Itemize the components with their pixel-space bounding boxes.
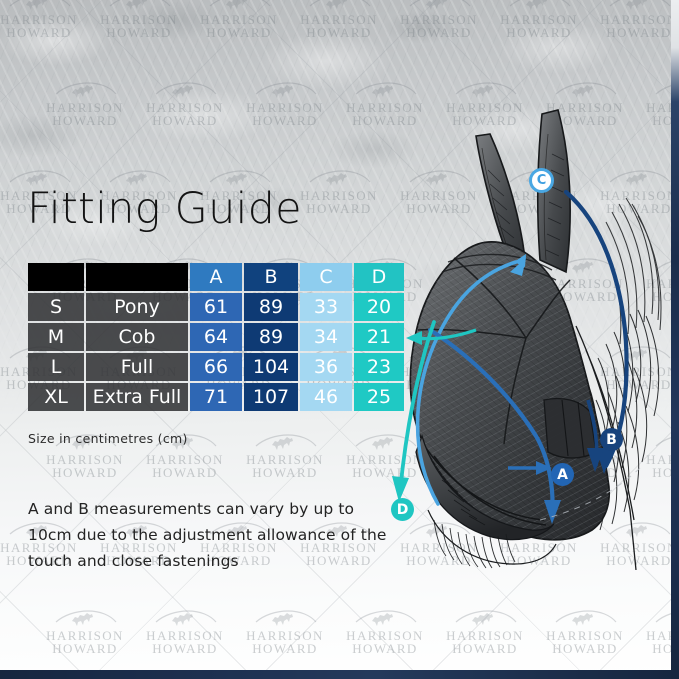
cell-col-a: 61 <box>190 293 242 321</box>
cell-col-b: 107 <box>244 383 298 411</box>
header-blank-size <box>28 263 84 291</box>
cell-col-d: 23 <box>354 353 404 381</box>
table-header-row: A B C D <box>28 263 404 291</box>
table-row: SPony61893320 <box>28 293 404 321</box>
cell-col-c: 33 <box>300 293 352 321</box>
cell-col-d: 21 <box>354 323 404 351</box>
table-header: A B C D <box>28 263 404 291</box>
header-col-a: A <box>190 263 242 291</box>
cell-col-b: 104 <box>244 353 298 381</box>
table-row: LFull661043623 <box>28 353 404 381</box>
marker-b: B <box>600 428 623 451</box>
marker-c: C <box>529 168 554 193</box>
header-col-c: C <box>300 263 352 291</box>
cell-col-a: 64 <box>190 323 242 351</box>
page-title: Fitting Guide <box>27 184 302 234</box>
cell-col-c: 34 <box>300 323 352 351</box>
header-col-d: D <box>354 263 404 291</box>
cell-size: L <box>28 353 84 381</box>
cell-col-d: 20 <box>354 293 404 321</box>
cell-size: M <box>28 323 84 351</box>
cell-col-d: 25 <box>354 383 404 411</box>
measurement-note: A and B measurements can vary by up to 1… <box>28 496 388 574</box>
header-col-b: B <box>244 263 298 291</box>
units-caption: Size in centimetres (cm) <box>28 431 188 446</box>
cell-name: Cob <box>86 323 188 351</box>
cell-col-b: 89 <box>244 323 298 351</box>
cell-col-a: 71 <box>190 383 242 411</box>
size-chart-table: A B C D SPony61893320MCob64893421LFull66… <box>26 261 406 413</box>
header-blank-name <box>86 263 188 291</box>
right-border <box>671 0 679 679</box>
marker-d: D <box>391 498 414 521</box>
table-body: SPony61893320MCob64893421LFull661043623X… <box>28 293 404 411</box>
fitting-guide-page: HARRISONHOWARDHARRISONHOWARDHARRISONHOWA… <box>0 0 679 679</box>
table-row: MCob64893421 <box>28 323 404 351</box>
cell-col-a: 66 <box>190 353 242 381</box>
cell-size: XL <box>28 383 84 411</box>
bottom-border <box>0 670 679 679</box>
table-row: XLExtra Full711074625 <box>28 383 404 411</box>
cell-size: S <box>28 293 84 321</box>
cell-col-c: 46 <box>300 383 352 411</box>
cell-name: Extra Full <box>86 383 188 411</box>
cell-col-b: 89 <box>244 293 298 321</box>
marker-a: A <box>551 463 574 486</box>
cell-name: Pony <box>86 293 188 321</box>
cell-name: Full <box>86 353 188 381</box>
cell-col-c: 36 <box>300 353 352 381</box>
